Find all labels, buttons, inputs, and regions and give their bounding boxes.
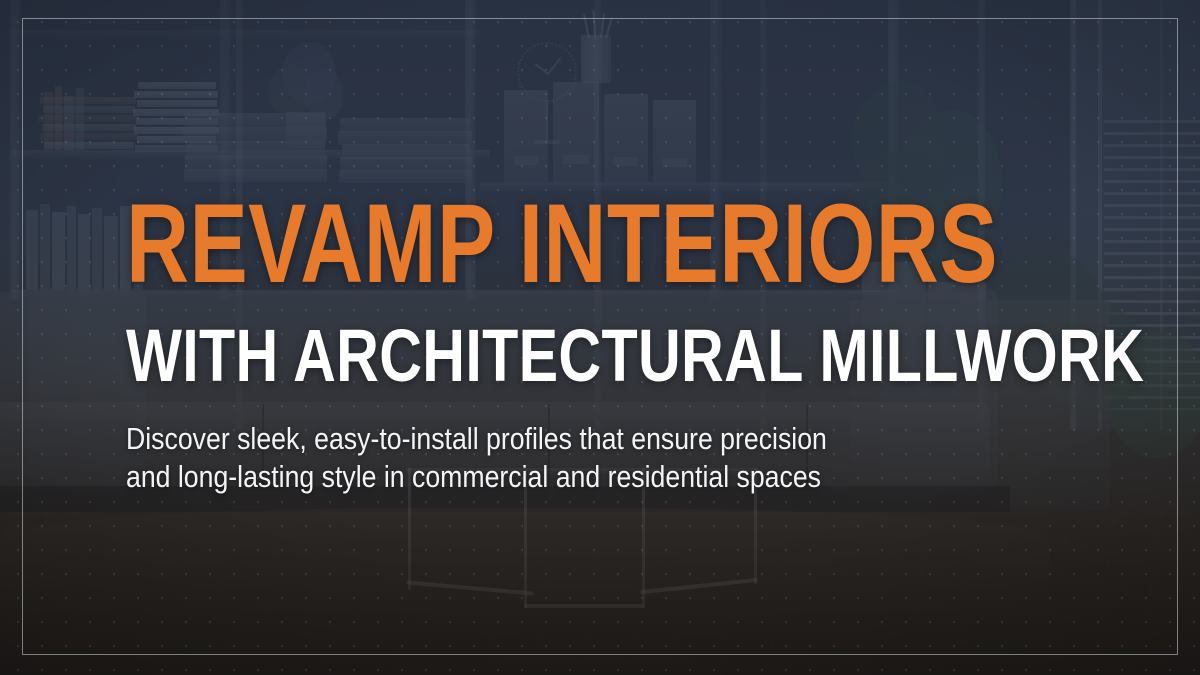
tagline: Discover sleek, easy-to-install profiles… [126, 420, 883, 497]
banner-content: REVAMP INTERIORS WITH ARCHITECTURAL MILL… [126, 190, 1006, 497]
tagline-line-1: Discover sleek, easy-to-install profiles… [126, 420, 883, 458]
headline: REVAMP INTERIORS [126, 190, 812, 298]
tagline-line-2: and long-lasting style in commercial and… [126, 458, 883, 496]
subheadline: WITH ARCHITECTURAL MILLWORK [126, 320, 830, 393]
hero-banner: REVAMP INTERIORS WITH ARCHITECTURAL MILL… [0, 0, 1200, 675]
